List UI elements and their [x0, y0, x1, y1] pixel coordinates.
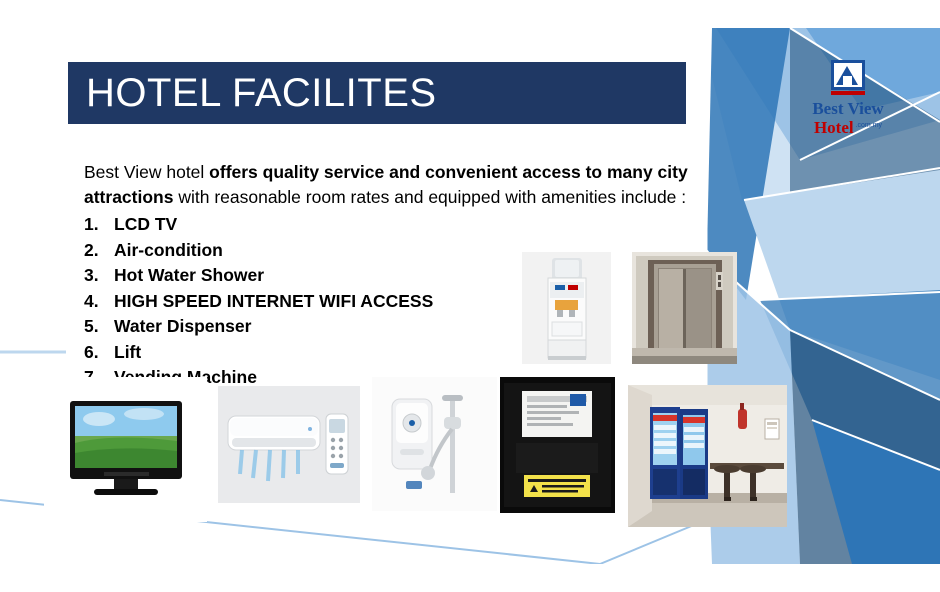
list-item: 3. Hot Water Shower	[84, 263, 724, 289]
list-item-label: Hot Water Shower	[114, 263, 264, 289]
list-item-number: 6.	[84, 340, 114, 366]
logo-hotel-row: Hotel .com.my	[800, 117, 896, 137]
list-item-label: Air-condition	[114, 238, 223, 264]
lift-photo	[632, 252, 737, 364]
slide: HOTEL FACILITES Best View Hotel .com.my …	[0, 0, 940, 592]
vending-machine-closeup-photo	[500, 377, 615, 513]
list-item-label: LCD TV	[114, 212, 177, 238]
body-text: Best View hotel offers quality service a…	[84, 160, 724, 391]
vending-machine-room-photo	[628, 385, 787, 527]
air-conditioner-photo	[218, 386, 360, 503]
facilities-list: 1. LCD TV 2. Air-condition 3. Hot Water …	[84, 212, 724, 391]
logo-domain-text: .com.my	[856, 117, 882, 137]
logo: Best View Hotel .com.my	[800, 58, 896, 154]
list-item: 4. HIGH SPEED INTERNET WIFI ACCESS	[84, 289, 724, 315]
list-item-number: 2.	[84, 238, 114, 264]
logo-best-view-text: Best View	[800, 100, 896, 117]
page-title: HOTEL FACILITES	[68, 71, 437, 116]
lcd-tv-photo	[44, 377, 207, 522]
list-item-label: HIGH SPEED INTERNET WIFI ACCESS	[114, 289, 433, 315]
list-item-number: 5.	[84, 314, 114, 340]
water-dispenser-photo	[522, 252, 611, 364]
intro-text-part2: with reasonable room rates and equipped …	[173, 187, 686, 207]
list-item: 5. Water Dispenser	[84, 314, 724, 340]
water-heater-shower-photo	[372, 377, 497, 511]
list-item-label: Lift	[114, 340, 141, 366]
list-item-number: 1.	[84, 212, 114, 238]
list-item: 2. Air-condition	[84, 238, 724, 264]
intro-text-part1: Best View hotel	[84, 162, 209, 182]
list-item-label: Water Dispenser	[114, 314, 251, 340]
logo-hotel-text: Hotel	[814, 119, 854, 137]
list-item: 1. LCD TV	[84, 212, 724, 238]
list-item-number: 3.	[84, 263, 114, 289]
list-item: 6. Lift	[84, 340, 724, 366]
intro-paragraph: Best View hotel offers quality service a…	[84, 160, 724, 210]
logo-mark-icon	[827, 58, 869, 98]
title-bar: HOTEL FACILITES	[68, 62, 686, 124]
list-item-number: 4.	[84, 289, 114, 315]
